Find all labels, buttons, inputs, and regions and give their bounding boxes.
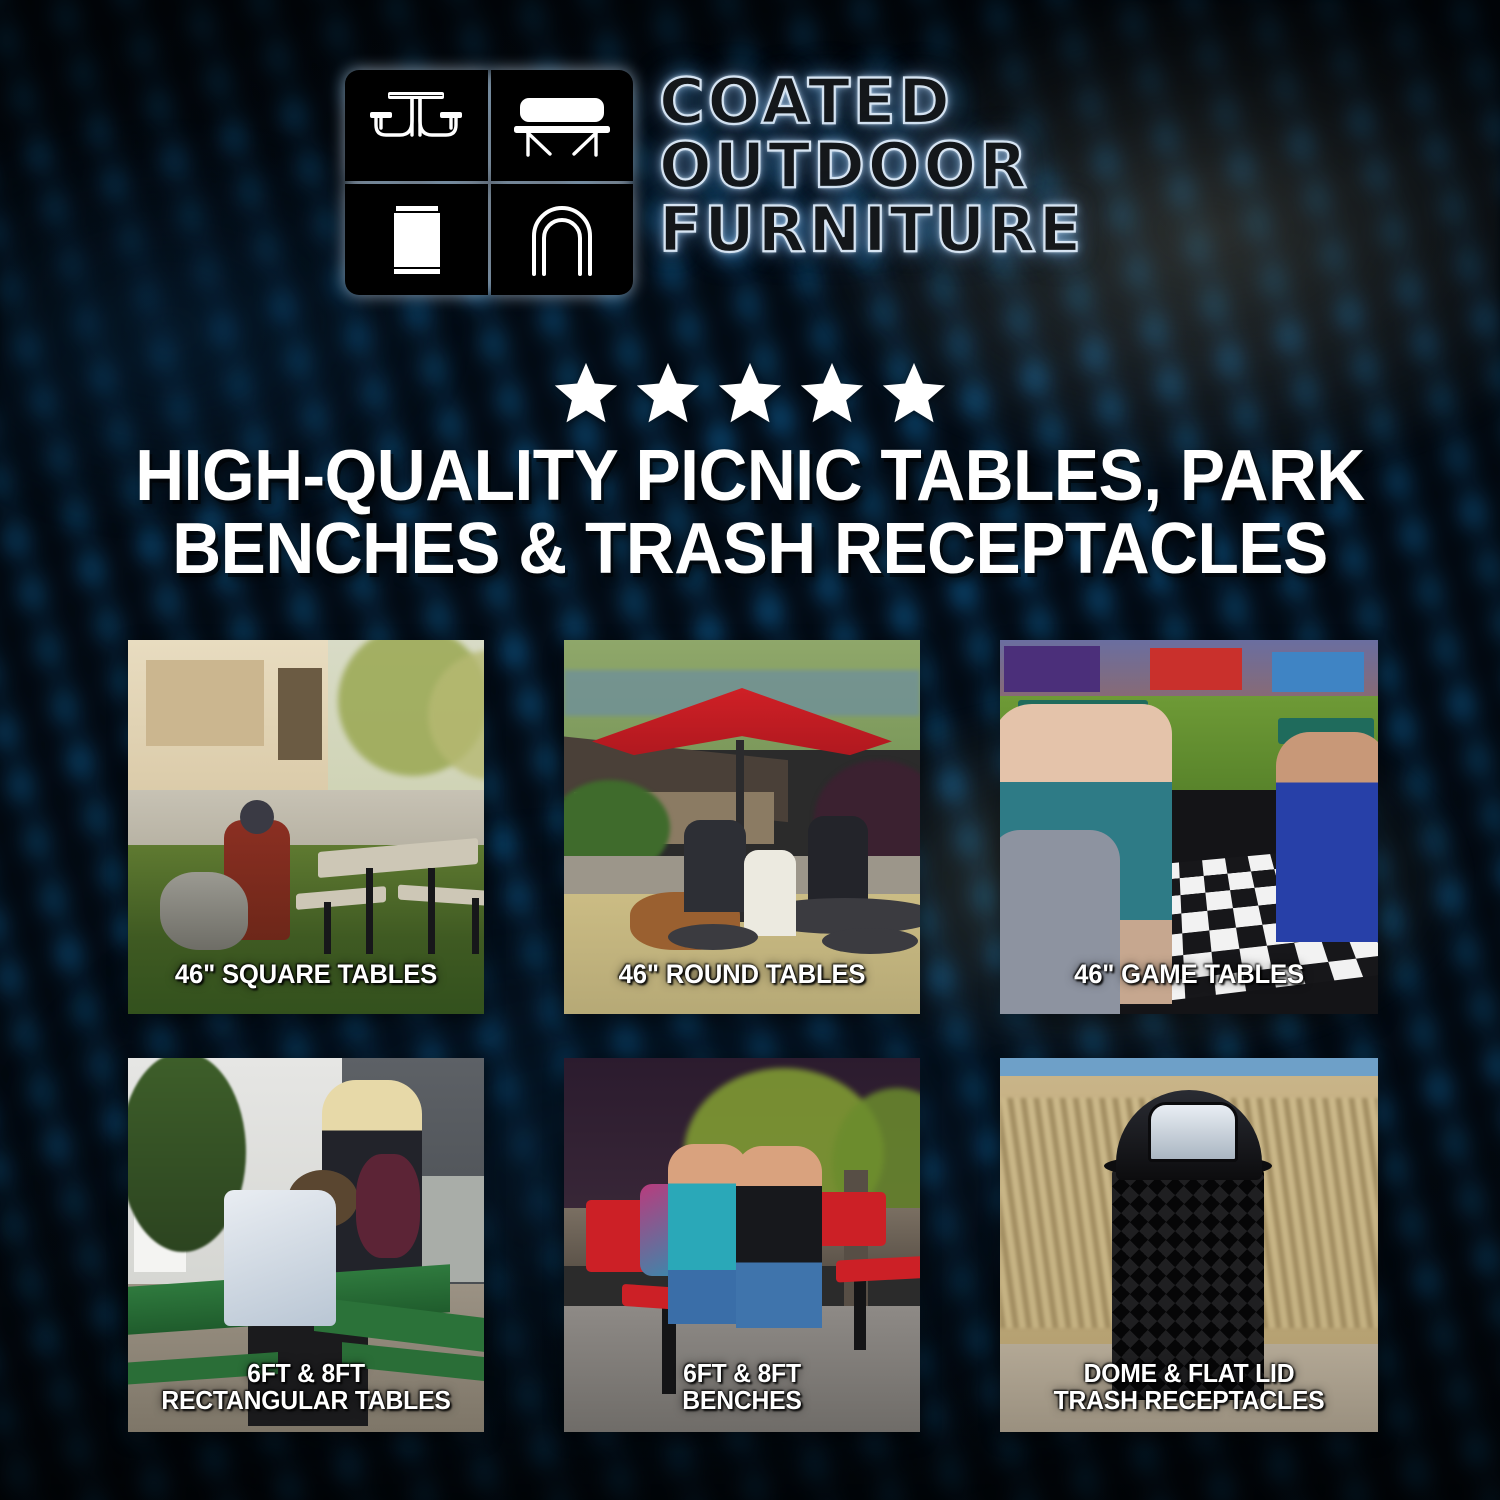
- product-caption: 46" ROUND TABLES: [579, 960, 906, 988]
- bike-rack-arch-icon: [491, 184, 634, 295]
- product-caption: 46" GAME TABLES: [1015, 960, 1363, 988]
- product-category-grid: 46" SQUARE TABLES: [128, 640, 1378, 1432]
- product-caption: 6FT & 8FT RECTANGULAR TABLES: [143, 1360, 470, 1414]
- product-card-round-tables[interactable]: 46" ROUND TABLES: [564, 640, 920, 1014]
- product-caption: 46" SQUARE TABLES: [143, 960, 470, 988]
- trash-receptacle-icon: [345, 184, 488, 295]
- photo-round-tables: [564, 640, 920, 1014]
- star-rating: [0, 360, 1500, 428]
- product-caption: DOME & FLAT LID TRASH RECEPTACLES: [1015, 1360, 1363, 1414]
- product-card-square-tables[interactable]: 46" SQUARE TABLES: [128, 640, 484, 1014]
- product-card-rectangular-tables[interactable]: 6FT & 8FT RECTANGULAR TABLES: [128, 1058, 484, 1432]
- picnic-table-icon: [345, 70, 488, 181]
- star-icon: [796, 360, 868, 428]
- product-card-benches[interactable]: 6FT & 8FT BENCHES: [564, 1058, 920, 1432]
- headline-line-1: HIGH-QUALITY PICNIC TABLES, PARK: [101, 440, 1398, 513]
- star-icon: [550, 360, 622, 428]
- headline-line-2: BENCHES & TRASH RECEPTACLES: [101, 513, 1398, 586]
- product-card-game-tables[interactable]: 46" GAME TABLES: [1000, 640, 1378, 1014]
- star-icon: [714, 360, 786, 428]
- product-caption: 6FT & 8FT BENCHES: [579, 1360, 906, 1414]
- star-icon: [632, 360, 704, 428]
- logo-word-furniture: FURNITURE: [659, 200, 1084, 261]
- photo-game-tables: [1000, 640, 1378, 1014]
- promotional-banner: COATED OUTDOOR FURNITURE HIGH-QUALITY PI…: [0, 0, 1500, 1500]
- product-card-trash-receptacles[interactable]: DOME & FLAT LID TRASH RECEPTACLES: [1000, 1058, 1378, 1432]
- logo-icon-grid: [345, 70, 633, 295]
- photo-square-tables: [128, 640, 484, 1014]
- brand-logo[interactable]: COATED OUTDOOR FURNITURE: [345, 70, 1175, 305]
- star-icon: [878, 360, 950, 428]
- logo-word-outdoor: OUTDOOR: [659, 136, 1084, 197]
- logo-word-coated: COATED: [659, 72, 1084, 133]
- park-bench-icon: [491, 70, 634, 181]
- brand-wordmark: COATED OUTDOOR FURNITURE: [659, 70, 1084, 260]
- page-title: HIGH-QUALITY PICNIC TABLES, PARK BENCHES…: [101, 440, 1398, 587]
